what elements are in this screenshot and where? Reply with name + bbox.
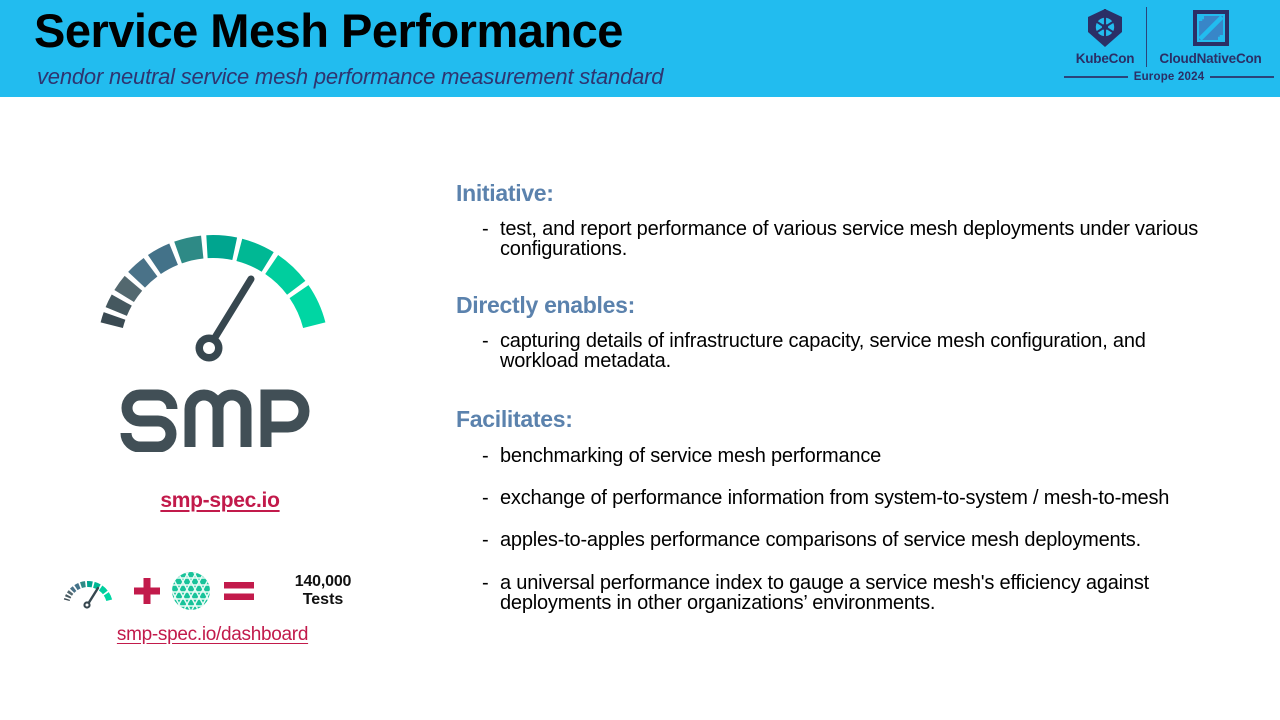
content-column: Initiative: - test, and report performan… bbox=[456, 180, 1216, 636]
conference-logo-names: KubeCon CloudNativeCon bbox=[1064, 49, 1274, 67]
bullet-marker: - bbox=[456, 446, 500, 466]
list-item: - exchange of performance information fr… bbox=[456, 488, 1216, 508]
list-item-text: test, and report performance of various … bbox=[500, 219, 1216, 260]
slide-header-banner: Service Mesh Performance vendor neutral … bbox=[0, 0, 1280, 97]
smp-spec-link[interactable]: smp-spec.io bbox=[0, 489, 440, 513]
list-item-text: capturing details of infrastructure capa… bbox=[500, 331, 1216, 372]
plus-icon bbox=[129, 576, 165, 606]
rule-right bbox=[1210, 76, 1274, 78]
kubernetes-helm-icon bbox=[1064, 8, 1146, 48]
list-item: - apples-to-apples performance compariso… bbox=[456, 530, 1216, 550]
bullet-list-directly-enables: - capturing details of infrastructure ca… bbox=[456, 331, 1216, 372]
conference-year-row: Europe 2024 bbox=[1064, 71, 1274, 83]
section-directly-enables: Directly enables: - capturing details of… bbox=[456, 292, 1216, 372]
test-count: 140,000 Tests bbox=[261, 573, 385, 610]
left-branding-column: smp-spec.io bbox=[0, 97, 440, 720]
bullet-marker: - bbox=[456, 488, 500, 508]
conference-logo-marks bbox=[1064, 5, 1274, 51]
meshery-mesh-circle-icon bbox=[165, 571, 217, 611]
page-title: Service Mesh Performance bbox=[34, 2, 623, 61]
bullet-marker: - bbox=[456, 530, 500, 550]
equals-icon bbox=[217, 579, 261, 603]
list-item: - benchmarking of service mesh performan… bbox=[456, 446, 1216, 466]
logo-name-divider bbox=[1146, 49, 1147, 67]
logo-divider bbox=[1146, 7, 1147, 49]
section-heading-directly-enables: Directly enables: bbox=[456, 292, 1216, 319]
bullet-list-facilitates: - benchmarking of service mesh performan… bbox=[456, 446, 1216, 614]
tests-formula-row: 140,000 Tests bbox=[55, 563, 385, 619]
bullet-marker: - bbox=[456, 573, 500, 593]
bullet-list-initiative: - test, and report performance of variou… bbox=[456, 219, 1216, 260]
bullet-marker: - bbox=[456, 219, 500, 239]
smp-dashboard-link-label[interactable]: smp-spec.io/dashboard bbox=[117, 624, 308, 645]
section-initiative: Initiative: - test, and report performan… bbox=[456, 180, 1216, 260]
speedometer-gauge-icon bbox=[85, 207, 365, 377]
list-item-text: apples-to-apples performance comparisons… bbox=[500, 530, 1216, 550]
list-item: - capturing details of infrastructure ca… bbox=[456, 331, 1216, 372]
list-item: - a universal performance index to gauge… bbox=[456, 573, 1216, 614]
cncf-square-icon bbox=[1147, 10, 1274, 46]
speedometer-gauge-icon-small bbox=[55, 571, 129, 611]
smp-spec-link-label[interactable]: smp-spec.io bbox=[160, 489, 279, 512]
cloudnativecon-label: CloudNativeCon bbox=[1147, 51, 1274, 66]
section-facilitates: Facilitates: - benchmarking of service m… bbox=[456, 406, 1216, 614]
smp-dashboard-link[interactable]: smp-spec.io/dashboard bbox=[0, 624, 425, 646]
list-item-text: benchmarking of service mesh performance bbox=[500, 446, 1216, 466]
kubecon-label: KubeCon bbox=[1064, 51, 1146, 66]
bullet-marker: - bbox=[456, 331, 500, 351]
test-count-unit: Tests bbox=[261, 591, 385, 609]
test-count-number: 140,000 bbox=[261, 573, 385, 591]
rule-left bbox=[1064, 76, 1128, 78]
list-item: - test, and report performance of variou… bbox=[456, 219, 1216, 260]
list-item-text: a universal performance index to gauge a… bbox=[500, 573, 1216, 614]
kubecon-cloudnativecon-logo: KubeCon CloudNativeCon Europe 2024 bbox=[1064, 3, 1274, 93]
section-heading-initiative: Initiative: bbox=[456, 180, 1216, 207]
conference-year-label: Europe 2024 bbox=[1134, 71, 1205, 83]
list-item-text: exchange of performance information from… bbox=[500, 488, 1216, 508]
section-heading-facilitates: Facilitates: bbox=[456, 406, 1216, 433]
gauge-needle bbox=[196, 279, 252, 362]
page-subtitle: vendor neutral service mesh performance … bbox=[37, 64, 663, 90]
smp-wordmark bbox=[0, 382, 440, 452]
